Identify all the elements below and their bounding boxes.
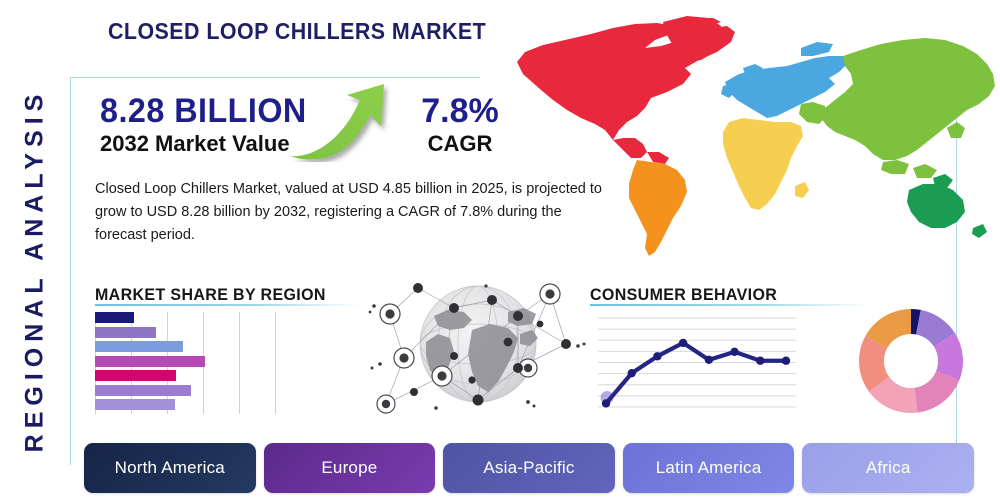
- consumer-behavior-underline: [590, 304, 870, 306]
- bar-fill: [95, 370, 176, 381]
- bar-row: [95, 327, 280, 338]
- line-data-point: [602, 399, 610, 407]
- region-button-bar: North AmericaEuropeAsia-PacificLatin Ame…: [84, 443, 974, 493]
- region-button-north-america[interactable]: North America: [84, 443, 256, 493]
- market-value-number: 8.28 BILLION: [100, 92, 307, 130]
- line-data-point: [782, 357, 790, 365]
- map-south-america: [629, 160, 687, 256]
- region-button-latin-america[interactable]: Latin America: [623, 443, 795, 493]
- market-value-stat: 8.28 BILLION 2032 Market Value: [100, 92, 318, 158]
- region-button-africa[interactable]: Africa: [802, 443, 974, 493]
- map-oceania: [907, 174, 987, 238]
- consumer-behavior-line-chart: [598, 312, 796, 415]
- region-button-label: Latin America: [656, 458, 762, 478]
- bar-row: [95, 356, 280, 367]
- market-share-underline: [95, 304, 360, 306]
- region-button-europe[interactable]: Europe: [264, 443, 436, 493]
- line-data-point: [679, 339, 687, 347]
- bar-fill: [95, 312, 134, 323]
- side-label-text: REGIONAL ANALYSIS: [21, 88, 50, 452]
- bar-fill: [95, 341, 183, 352]
- globe-network-icon: [368, 272, 590, 418]
- region-button-label: Europe: [321, 458, 377, 478]
- page-title: CLOSED LOOP CHILLERS MARKET: [108, 18, 486, 45]
- market-share-heading: MARKET SHARE BY REGION: [95, 285, 326, 305]
- bar-row: [95, 385, 280, 396]
- bar-fill: [95, 356, 205, 367]
- bar-fill: [95, 327, 156, 338]
- infographic-root: REGIONAL ANALYSIS CLOSED LOOP CHILLERS M…: [0, 0, 1000, 500]
- world-map-icon: [495, 12, 1000, 267]
- bar-row: [95, 341, 280, 352]
- bar-row: [95, 312, 280, 323]
- region-button-asia-pacific[interactable]: Asia-Pacific: [443, 443, 615, 493]
- consumer-behavior-heading: CONSUMER BEHAVIOR: [590, 285, 777, 305]
- growth-arrow-icon: [288, 82, 393, 162]
- line-data-point: [756, 357, 764, 365]
- line-data-point: [653, 352, 661, 360]
- side-vertical-label: REGIONAL ANALYSIS: [8, 70, 62, 470]
- line-data-point: [628, 369, 636, 377]
- bar-fill: [95, 385, 191, 396]
- region-button-label: North America: [115, 458, 225, 478]
- market-value-caption: 2032 Market Value: [100, 130, 318, 158]
- bar-row: [95, 370, 280, 381]
- line-data-point: [730, 348, 738, 356]
- donut-chart: [855, 305, 967, 417]
- map-africa: [723, 118, 809, 210]
- line-data-point: [705, 356, 713, 364]
- market-share-bar-chart: [95, 312, 280, 414]
- bar-row: [95, 399, 280, 410]
- region-button-label: Asia-Pacific: [483, 458, 574, 478]
- bar-fill: [95, 399, 175, 410]
- region-button-label: Africa: [866, 458, 911, 478]
